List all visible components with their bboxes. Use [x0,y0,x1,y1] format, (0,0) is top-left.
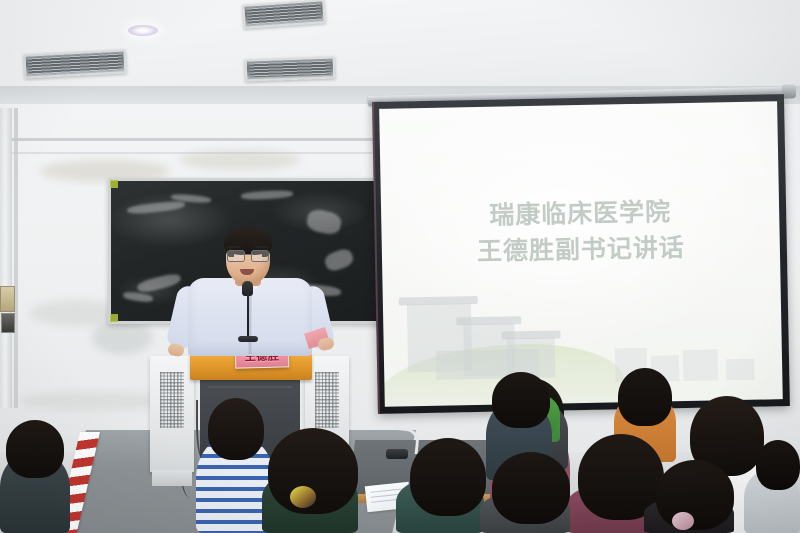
wall-stain [180,150,300,170]
wall-panel-upper[interactable] [0,286,15,312]
blackboard-bracket-topleft [110,180,118,188]
hair-scrunchie [290,486,316,508]
projection-screen[interactable]: 瑞康临床医学院 王德胜副书记讲话 [372,94,790,414]
blackboard-bracket-botleft [110,314,118,322]
gooseneck-microphone-base [386,449,408,459]
wall-switch[interactable] [1,313,15,333]
hair-clip [672,512,694,530]
door-frame [0,108,12,408]
slide-background-image [382,268,782,407]
slide-text-block: 瑞康临床医学院 王德胜副书记讲话 [381,194,780,273]
speaker-grille-icon [315,372,339,428]
glasses-icon [227,250,269,261]
microphone-stem [247,288,249,338]
door-frame-inner [14,108,18,408]
ceiling-downlight [128,25,158,36]
ceiling-vent-right [245,56,336,81]
wall-stain [92,320,152,354]
lecture-hall-photo: 瑞康临床医学院 王德胜副书记讲话 王德胜 [0,0,800,533]
microphone-base [238,336,258,342]
podium-speaker-left [150,356,194,472]
wall-seam [0,138,430,141]
wall-stain [20,392,170,410]
screen-surface: 瑞康临床医学院 王德胜副书记讲话 [379,101,783,407]
speaker-grille-icon [160,372,184,428]
